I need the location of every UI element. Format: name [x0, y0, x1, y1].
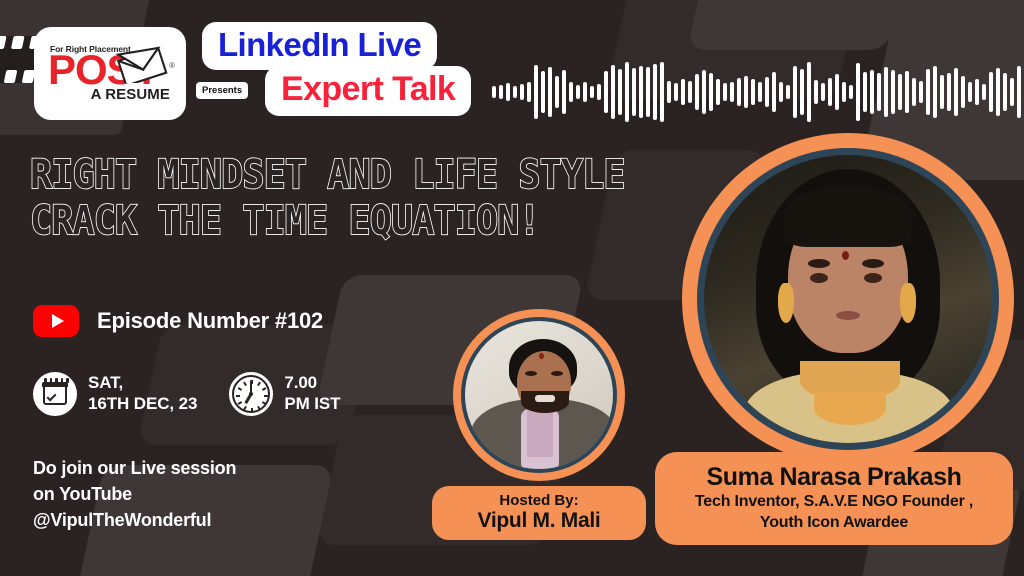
session-title-line-1: Right Mindset and Life Style [30, 152, 656, 198]
presents-badge: Presents [196, 82, 248, 99]
waveform-bar [884, 67, 888, 117]
waveform-bar [1003, 73, 1007, 111]
waveform-bar [492, 86, 496, 97]
waveform-bar [702, 70, 706, 115]
clock-tick [258, 406, 261, 410]
session-title-line-2: Crack the Time Equation! [30, 198, 656, 244]
clock-tick [263, 401, 267, 404]
logo-subtitle: A RESUME [44, 86, 170, 103]
waveform-bar [534, 65, 538, 119]
waveform-bar [562, 70, 566, 115]
waveform-bar [912, 78, 916, 105]
host-name-plate: Hosted By: Vipul M. Mali [432, 486, 646, 540]
clock-tick [236, 395, 240, 397]
waveform-bar [793, 66, 797, 119]
waveform-bar [737, 78, 741, 107]
waveform-bar [716, 79, 720, 105]
clock-tick [265, 395, 269, 397]
waveform-bar [730, 82, 734, 101]
waveform-bar [898, 74, 902, 109]
waveform-bar [856, 63, 860, 121]
waveform-bar [520, 84, 524, 100]
waveform-bar [842, 82, 846, 101]
waveform-bar [877, 73, 881, 111]
expert-talk-label: Expert Talk [281, 70, 455, 109]
waveform-bar [961, 76, 965, 108]
waveform-bar [674, 83, 678, 101]
waveform-bar [800, 69, 804, 115]
waveform-bar [891, 70, 895, 113]
waveform-bar [849, 85, 853, 99]
cta-line-1: Do join our Live session [33, 455, 236, 481]
registered-mark: ® [169, 61, 175, 70]
clock-tick [243, 382, 246, 386]
waveform-bar [863, 72, 867, 112]
schedule-time-line-2: PM IST [284, 394, 340, 415]
calendar-icon [33, 372, 77, 416]
host-photo-frame [453, 309, 625, 481]
waveform-bar [632, 68, 636, 116]
waveform-bar [709, 73, 713, 111]
waveform-bar [555, 76, 559, 108]
waveform-bar [639, 66, 643, 119]
schedule-time: 7.00 PM IST [229, 372, 340, 416]
waveform-bar [933, 66, 937, 119]
guest-title-line-2: Youth Icon Awardee [665, 513, 1003, 534]
episode-label: Episode Number #102 [97, 308, 323, 334]
waveform-bar [583, 82, 587, 101]
envelope-icon [114, 43, 168, 83]
waveform-bar [646, 67, 650, 117]
linkedin-live-label: LinkedIn Live [218, 26, 421, 64]
host-name: Vipul M. Mali [432, 509, 646, 533]
waveform-bar [807, 62, 811, 121]
waveform-bar [527, 82, 531, 103]
waveform-bar [828, 78, 832, 107]
waveform-bar [779, 82, 783, 101]
waveform-bar [618, 69, 622, 115]
waveform-bar [513, 86, 517, 99]
waveform-bar [940, 75, 944, 109]
linkedin-live-badge: LinkedIn Live [202, 22, 437, 70]
guest-photo-frame [682, 133, 1014, 465]
schedule-row: SAT, 16TH DEC, 23 7.00 PM IST [33, 372, 340, 416]
cta-line-3: @VipulTheWonderful [33, 507, 236, 533]
clock-tick [238, 387, 242, 390]
session-title: Right Mindset and Life Style Crack the T… [30, 152, 710, 245]
clock-tick [252, 408, 254, 412]
waveform-bar [548, 67, 552, 117]
waveform-bar [765, 77, 769, 107]
schedule-date-line-2: 16TH DEC, 23 [88, 394, 197, 415]
audio-waveform [492, 56, 1024, 128]
schedule-date: SAT, 16TH DEC, 23 [33, 372, 197, 416]
call-to-action: Do join our Live session on YouTube @Vip… [33, 455, 236, 533]
waveform-bar [975, 79, 979, 105]
waveform-bar [835, 74, 839, 111]
waveform-bar [1010, 78, 1014, 107]
waveform-bar [996, 68, 1000, 116]
waveform-bar [905, 71, 909, 113]
host-prefix: Hosted By: [432, 493, 646, 510]
clock-tick [258, 382, 261, 386]
waveform-bar [576, 85, 580, 99]
waveform-bar [947, 73, 951, 111]
waveform-bar [744, 76, 748, 108]
clock-tick [238, 402, 242, 405]
waveform-bar [919, 81, 923, 103]
waveform-bar [541, 71, 545, 113]
waveform-bar [590, 86, 594, 99]
schedule-time-line-1: 7.00 [284, 373, 340, 394]
waveform-bar [982, 84, 986, 100]
waveform-bar [968, 82, 972, 101]
waveform-bar [604, 71, 608, 113]
waveform-bar [597, 84, 601, 100]
waveform-bar [653, 64, 657, 120]
waveform-bar [821, 83, 825, 101]
waveform-bar [723, 83, 727, 101]
youtube-icon [33, 305, 79, 337]
guest-title-line-1: Tech Inventor, S.A.V.E NGO Founder , [665, 492, 1003, 513]
post-a-resume-logo: For Right Placement POST A RESUME ® [34, 27, 186, 120]
waveform-bar [772, 72, 776, 112]
waveform-bar [758, 82, 762, 103]
waveform-bar [695, 74, 699, 111]
guest-photo [704, 155, 992, 443]
clock-tick [244, 406, 247, 410]
livestream-promo-poster: For Right Placement POST A RESUME ® Pres… [0, 0, 1024, 576]
waveform-bar [989, 72, 993, 112]
guest-name: Suma Narasa Prakash [665, 463, 1003, 492]
host-photo [465, 321, 613, 469]
waveform-bar [667, 81, 671, 103]
episode-row: Episode Number #102 [33, 305, 323, 337]
waveform-bar [611, 65, 615, 119]
waveform-bar [660, 62, 664, 123]
waveform-bar [814, 80, 818, 104]
schedule-date-line-1: SAT, [88, 373, 197, 394]
clock-icon [229, 372, 273, 416]
waveform-bar [954, 68, 958, 116]
guest-name-plate: Suma Narasa Prakash Tech Inventor, S.A.V… [655, 452, 1013, 545]
waveform-bar [751, 79, 755, 105]
waveform-bar [688, 81, 692, 103]
waveform-bar [681, 79, 685, 105]
waveform-bar [870, 70, 874, 115]
waveform-bar [506, 83, 510, 101]
waveform-bar [499, 85, 503, 99]
waveform-bar [786, 85, 790, 99]
waveform-bar [569, 82, 573, 103]
expert-talk-badge: Expert Talk [265, 66, 471, 116]
waveform-bar [625, 62, 629, 123]
waveform-bar [1017, 66, 1021, 119]
waveform-bar [926, 69, 930, 115]
cta-line-2: on YouTube [33, 481, 236, 507]
clock-tick [263, 387, 267, 390]
